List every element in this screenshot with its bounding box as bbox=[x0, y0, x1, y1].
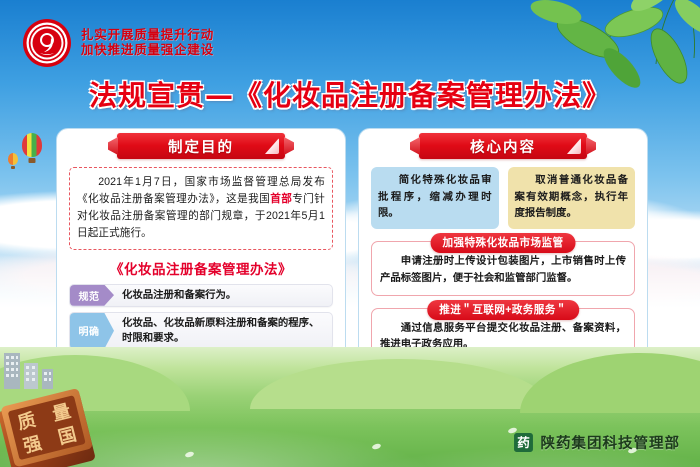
law-subtitle: 《化妆品注册备案管理办法》 bbox=[69, 258, 333, 278]
header-branding: 扎实开展质量提升行动 加快推进质量强企建设 bbox=[22, 18, 214, 68]
purpose-banner: 制定目的 bbox=[117, 133, 285, 159]
green-leaves-icon bbox=[526, 0, 700, 136]
law-item-row: 规范化妆品注册和备案行为。 bbox=[69, 284, 333, 307]
law-item-tag: 明确 bbox=[70, 313, 114, 349]
core-section-pill: 加强特殊化妆品市场监管 bbox=[431, 233, 576, 253]
purpose-highlight: 首部 bbox=[270, 193, 292, 205]
shaanxi-pharma-logo-icon: 药 bbox=[513, 432, 534, 453]
slogan-line-2: 加快推进质量强企建设 bbox=[81, 43, 214, 58]
law-item-text: 化妆品注册和备案行为。 bbox=[114, 285, 332, 306]
city-skyline-icon bbox=[2, 343, 66, 389]
core-top-boxes: 简化特殊化妆品审批程序，缩减办理时限。 取消普通化妆品备案有效期概念，执行年度报… bbox=[371, 167, 635, 229]
core-banner-label: 核心内容 bbox=[470, 136, 536, 157]
svg-text:药: 药 bbox=[517, 435, 530, 450]
footer-org-name: 陕药集团科技管理部 bbox=[541, 432, 681, 453]
core-section-market-supervision: 加强特殊化妆品市场监管 申请注册时上传设计包装图片，上市销售时上传产品标签图片，… bbox=[371, 241, 635, 296]
purpose-paragraph: 2021年1月7日，国家市场监督管理总局发布《化妆品注册备案管理办法》，这是我国… bbox=[77, 174, 325, 243]
core-banner: 核心内容 bbox=[419, 133, 587, 159]
hot-air-balloon-small bbox=[8, 153, 18, 165]
ribbon-fold-corner bbox=[265, 138, 279, 154]
core-card-body: 简化特殊化妆品审批程序，缩减办理时限。 取消普通化妆品备案有效期概念，执行年度报… bbox=[371, 167, 635, 362]
poster-canvas: 扎实开展质量提升行动 加快推进质量强企建设 法规宣贯—《化妆品注册备案管理办法》… bbox=[0, 0, 700, 467]
footer-organization: 药 陕药集团科技管理部 bbox=[513, 432, 681, 453]
purpose-banner-label: 制定目的 bbox=[168, 136, 234, 157]
hot-air-balloon-large bbox=[22, 133, 42, 157]
law-item-text: 化妆品、化妆品新原料注册和备案的程序、时限和要求。 bbox=[114, 313, 332, 349]
page-title: 法规宣贯—《化妆品注册备案管理办法》 bbox=[0, 74, 700, 114]
slogan-line-1: 扎实开展质量提升行动 bbox=[81, 28, 214, 43]
law-item-row: 明确化妆品、化妆品新原料注册和备案的程序、时限和要求。 bbox=[69, 312, 333, 350]
quality-slogan: 扎实开展质量提升行动 加快推进质量强企建设 bbox=[81, 28, 214, 59]
china-quality-month-emblem-icon bbox=[22, 18, 72, 68]
core-box-simplify: 简化特殊化妆品审批程序，缩减办理时限。 bbox=[371, 167, 499, 229]
traditional-seal-stamp-icon: 质 量 强 国 bbox=[0, 387, 98, 467]
law-item-tag: 规范 bbox=[70, 285, 114, 306]
core-box-cancel-validity: 取消普通化妆品备案有效期概念，执行年度报告制度。 bbox=[508, 167, 636, 229]
ribbon-fold-corner bbox=[567, 138, 581, 154]
purpose-dashed-box: 2021年1月7日，国家市场监督管理总局发布《化妆品注册备案管理办法》，这是我国… bbox=[69, 167, 333, 250]
core-section-pill: 推进＂互联网+政务服务＂ bbox=[427, 300, 579, 320]
